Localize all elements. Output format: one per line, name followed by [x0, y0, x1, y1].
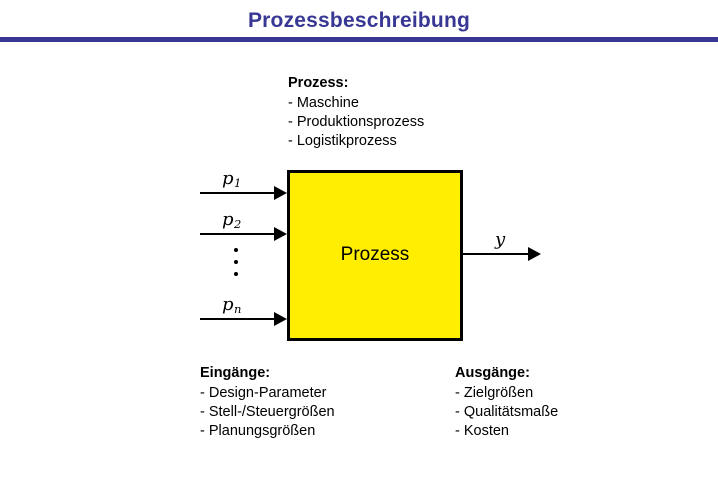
- inputs-note-item-3: - Planungsgrößen: [200, 422, 335, 441]
- output-label-y: y: [495, 229, 505, 250]
- process-block-label: Prozess: [287, 244, 463, 266]
- outputs-note-item-1: - Zielgrößen: [455, 384, 558, 403]
- outputs-note-heading: Ausgänge:: [455, 364, 558, 383]
- inputs-note-item-2: - Stell-/Steuergrößen: [200, 403, 335, 422]
- input-label-pn-subscript: n: [234, 302, 241, 316]
- inputs-note: Eingänge: - Design-Parameter - Stell-/St…: [200, 364, 335, 441]
- input-label-pn: pn: [222, 294, 241, 315]
- input-label-p1-subscript: 1: [234, 176, 241, 190]
- input-arrow-1-head: [274, 186, 287, 200]
- input-arrow-n-head: [274, 312, 287, 326]
- output-arrow-head: [528, 247, 541, 261]
- input-label-p1: p1: [222, 168, 241, 189]
- input-arrow-2-shaft: [200, 233, 274, 235]
- input-label-p2-subscript: 2: [234, 217, 241, 231]
- inputs-note-item-1: - Design-Parameter: [200, 384, 335, 403]
- outputs-note-item-3: - Kosten: [455, 422, 558, 441]
- vertical-ellipsis-icon: [231, 248, 241, 280]
- process-block-diagram: Prozess p1 p2 pn y: [0, 0, 718, 487]
- outputs-note: Ausgänge: - Zielgrößen - Qualitätsmaße -…: [455, 364, 558, 441]
- output-label-y-base: y: [495, 229, 505, 250]
- input-label-p2-base: p: [222, 209, 234, 230]
- outputs-note-item-2: - Qualitätsmaße: [455, 403, 558, 422]
- input-label-p1-base: p: [222, 168, 234, 189]
- inputs-note-heading: Eingänge:: [200, 364, 335, 383]
- input-arrow-1-shaft: [200, 192, 274, 194]
- slide: Prozessbeschreibung Prozess: - Maschine …: [0, 0, 718, 487]
- input-label-pn-base: p: [222, 294, 234, 315]
- input-arrow-2-head: [274, 227, 287, 241]
- output-arrow-shaft: [462, 253, 528, 255]
- input-label-p2: p2: [222, 209, 241, 230]
- input-arrow-n-shaft: [200, 318, 274, 320]
